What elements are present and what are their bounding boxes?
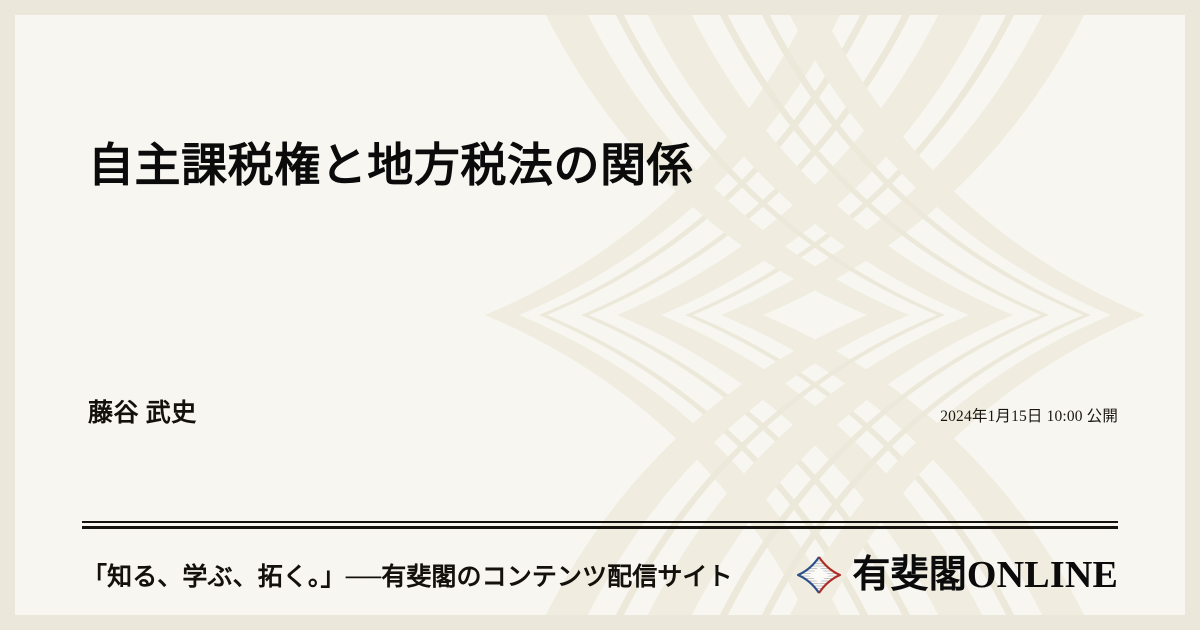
divider-rule-thick bbox=[82, 526, 1118, 529]
publish-date: 2024年1月15日 10:00 公開 bbox=[940, 404, 1118, 426]
page-title: 自主課税権と地方税法の関係 bbox=[88, 133, 808, 198]
article-meta-row: 藤谷 武史 2024年1月15日 10:00 公開 bbox=[88, 393, 1118, 427]
yuhikaku-lens-emblem-icon bbox=[796, 555, 842, 595]
author-name: 藤谷 武史 bbox=[88, 393, 197, 429]
brand-name: 有斐閣ONLINE bbox=[852, 556, 1118, 594]
site-tagline: 「知る、学ぶ、拓く。」──有斐閣のコンテンツ配信サイト bbox=[82, 557, 733, 593]
ogp-frame: 自主課税権と地方税法の関係 藤谷 武史 2024年1月15日 10:00 公開 … bbox=[0, 0, 1200, 630]
divider-rule-thin bbox=[82, 521, 1118, 523]
footer-divider bbox=[82, 521, 1118, 529]
footer-bar: 「知る、学ぶ、拓く。」──有斐閣のコンテンツ配信サイト bbox=[82, 545, 1118, 605]
ogp-card: 自主課税権と地方税法の関係 藤谷 武史 2024年1月15日 10:00 公開 … bbox=[15, 15, 1185, 615]
brand-lockup: 有斐閣ONLINE bbox=[796, 555, 1118, 595]
content-layer: 自主課税権と地方税法の関係 藤谷 武史 2024年1月15日 10:00 公開 … bbox=[15, 15, 1185, 615]
